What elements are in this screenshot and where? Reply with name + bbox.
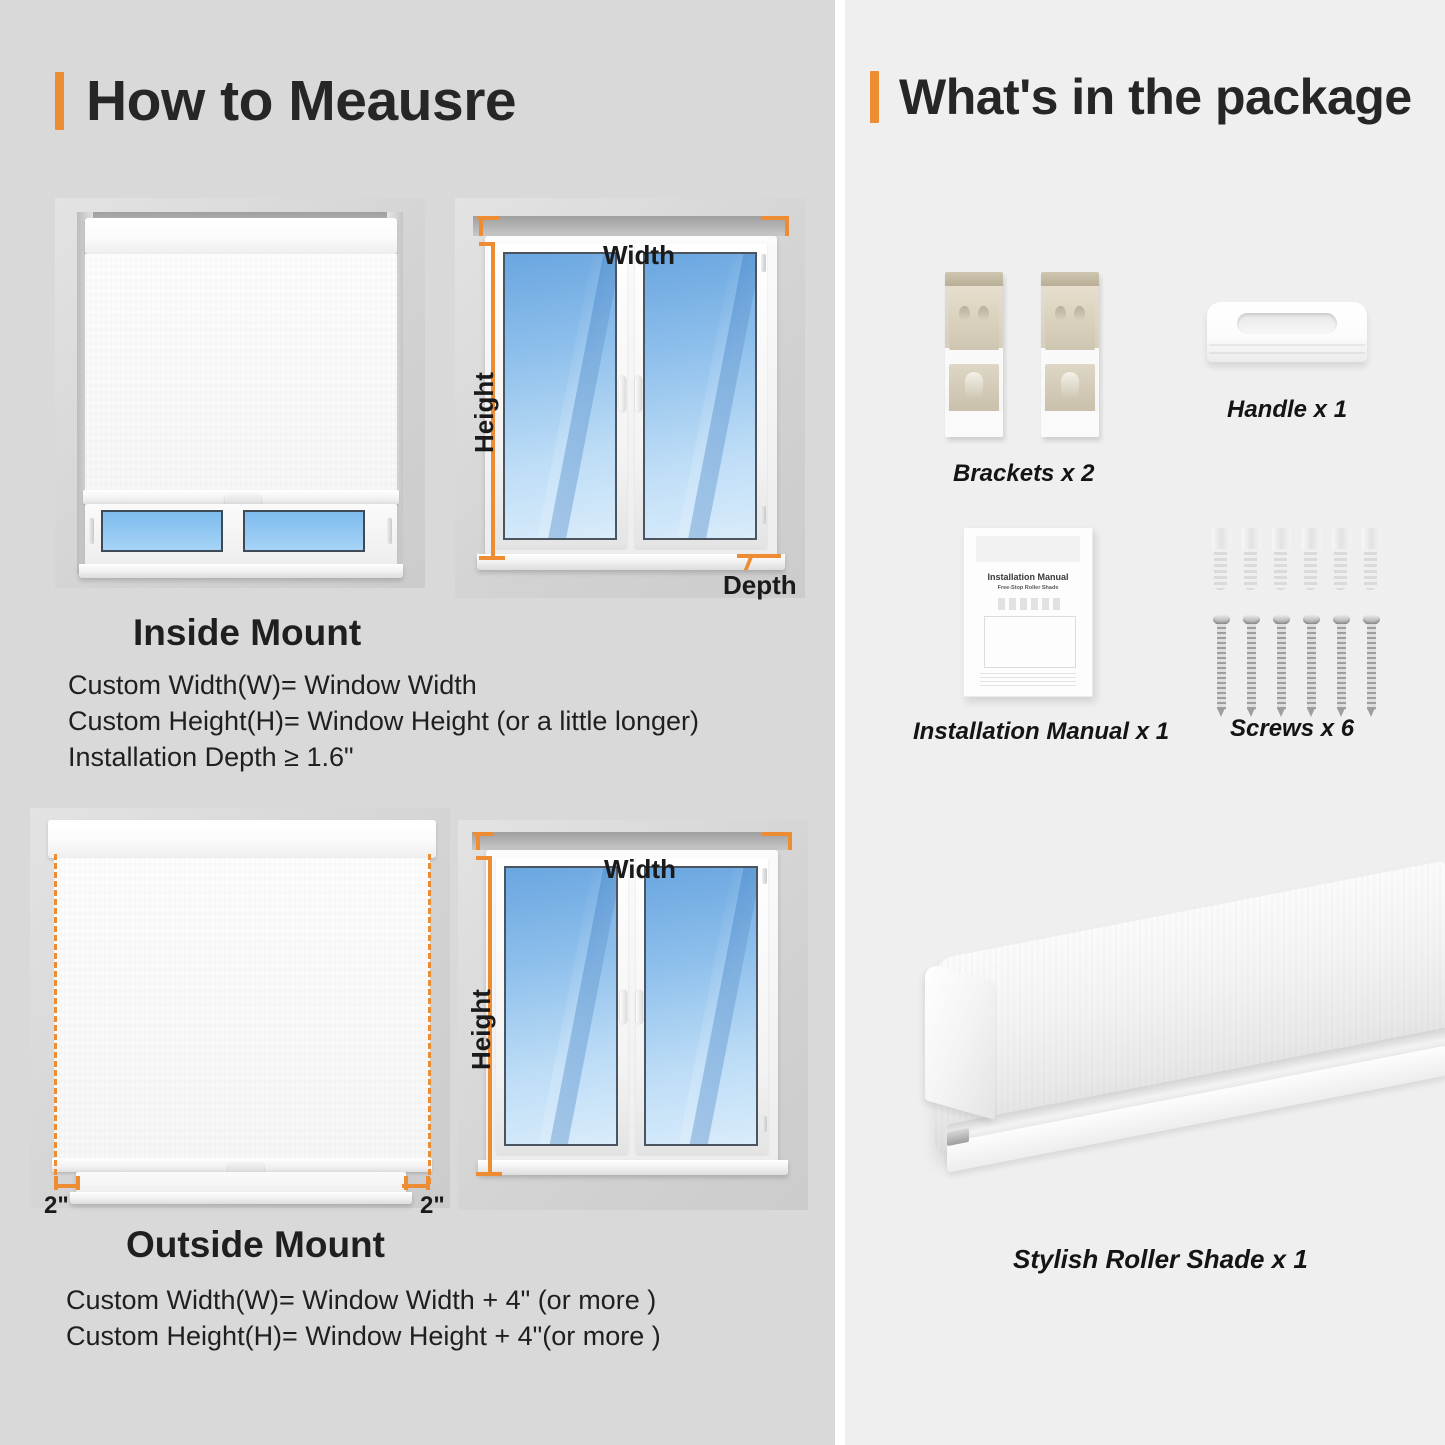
outside-mount-lines: Custom Width(W)= Window Width + 4" (or m… bbox=[66, 1283, 661, 1355]
left-extension-label: 2" bbox=[44, 1192, 69, 1220]
depth-marker bbox=[737, 554, 781, 558]
manual-cover-subtitle: Free-Stop Roller Shade bbox=[964, 585, 1092, 591]
package-heading: What's in the package bbox=[870, 68, 1412, 126]
shade-fabric-outside bbox=[54, 858, 430, 1160]
accent-bar-icon bbox=[55, 72, 64, 130]
inside-mount-line-1: Custom Width(W)= Window Width bbox=[68, 668, 699, 704]
screws-label: Screws x 6 bbox=[1230, 715, 1354, 743]
outside-mount-line-2: Custom Height(H)= Window Height + 4"(or … bbox=[66, 1319, 661, 1355]
inside-mount-window-diagram: Width Height Depth bbox=[455, 198, 805, 598]
how-to-measure-title: How to Meausre bbox=[86, 68, 516, 134]
roller-shade-icon bbox=[895, 880, 1435, 1210]
handle-icon bbox=[1207, 302, 1367, 362]
outside-mount-title: Outside Mount bbox=[126, 1224, 385, 1266]
infographic-page: How to Meausre bbox=[0, 0, 1445, 1445]
shade-cassette-outside bbox=[48, 820, 436, 858]
manual-icon: Installation Manual Free-Stop Roller Sha… bbox=[963, 527, 1093, 697]
how-to-measure-panel: How to Meausre bbox=[0, 0, 835, 1445]
roller-shade-label: Stylish Roller Shade x 1 bbox=[1013, 1244, 1308, 1275]
outside-mount-shade-illustration: 2" 2" bbox=[30, 808, 450, 1208]
how-to-measure-heading: How to Meausre bbox=[55, 68, 516, 134]
left-extension-guide bbox=[54, 854, 57, 1184]
inside-mount-line-2: Custom Height(H)= Window Height (or a li… bbox=[68, 704, 699, 740]
outside-mount-line-1: Custom Width(W)= Window Width + 4" (or m… bbox=[66, 1283, 661, 1319]
depth-label: Depth bbox=[723, 570, 797, 601]
width-label-outside: Width bbox=[604, 854, 676, 885]
right-extension-guide bbox=[428, 854, 431, 1184]
manual-cover-title: Installation Manual bbox=[964, 572, 1092, 582]
shade-cassette bbox=[85, 218, 397, 254]
inside-mount-line-3: Installation Depth ≥ 1.6" bbox=[68, 740, 699, 776]
manual-label: Installation Manual x 1 bbox=[913, 718, 1169, 746]
package-title: What's in the package bbox=[899, 68, 1412, 126]
shade-fabric bbox=[85, 254, 397, 492]
inside-mount-title: Inside Mount bbox=[133, 612, 361, 654]
height-label: Height bbox=[469, 372, 500, 453]
handle-label: Handle x 1 bbox=[1227, 396, 1347, 424]
inside-mount-lines: Custom Width(W)= Window Width Custom Hei… bbox=[68, 668, 699, 776]
package-contents-panel: What's in the package Brackets x 2 bbox=[845, 0, 1445, 1445]
width-label: Width bbox=[603, 240, 675, 271]
brackets-label: Brackets x 2 bbox=[953, 460, 1094, 488]
accent-bar-icon-right bbox=[870, 71, 879, 123]
right-extension-label: 2" bbox=[420, 1192, 445, 1220]
outside-mount-window-diagram: Width Height bbox=[458, 820, 808, 1210]
panel-divider bbox=[835, 0, 845, 1445]
inside-mount-shade-illustration bbox=[55, 198, 425, 588]
height-label-outside: Height bbox=[466, 989, 497, 1070]
